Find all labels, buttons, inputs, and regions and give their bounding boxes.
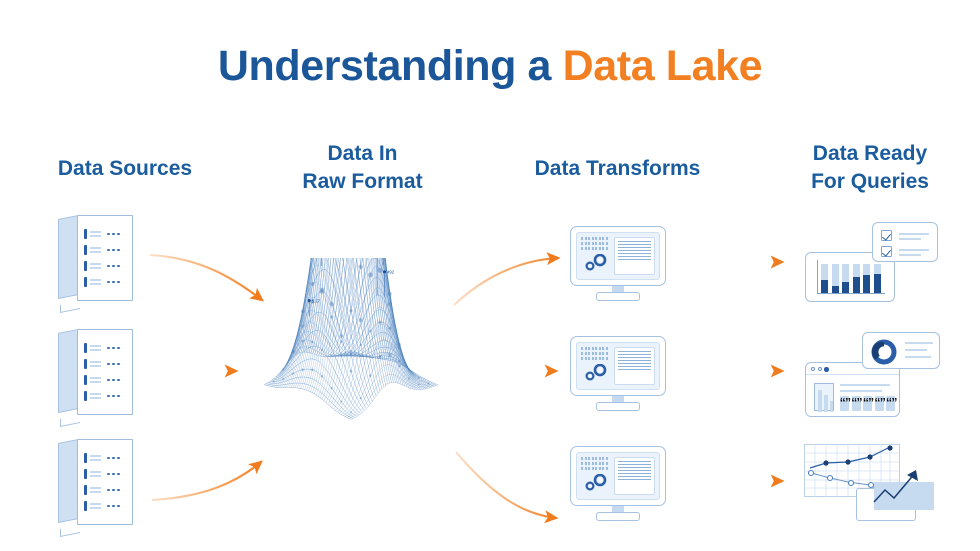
monitor-bezel (570, 336, 666, 396)
line-chart-with-trend-card[interactable] (800, 442, 945, 537)
bar-1 (821, 264, 828, 293)
dashboard-with-donut-chart[interactable] (800, 332, 945, 424)
data-lake-pin-label: 492 (387, 270, 395, 275)
bar-chart-with-checklist[interactable] (800, 222, 940, 312)
checklist-line-1b (899, 238, 921, 240)
monitor-settings-panel (581, 237, 611, 275)
bar-5 (863, 264, 870, 293)
gear-icon (581, 474, 611, 491)
monitor-code-panel (614, 237, 655, 275)
bar-4 (853, 264, 860, 293)
monitor-screen (576, 452, 660, 500)
checklist-line-2 (899, 249, 929, 251)
data-lake-pin: 488 (382, 258, 394, 265)
monitor-bezel (570, 446, 666, 506)
dashboard-line-2 (840, 390, 882, 392)
monitor-stand-base (596, 292, 640, 301)
dashboard-window (805, 362, 900, 417)
donut-chart-card (862, 332, 940, 369)
gear-icon (581, 364, 611, 381)
checkbox-checked-1[interactable] (881, 230, 892, 241)
monitor-screen (576, 232, 660, 280)
data-lake-pin-label: 5.17 (312, 298, 321, 303)
monitor-stand-base (596, 512, 640, 521)
monitor-screen (576, 342, 660, 390)
bar-2 (832, 264, 839, 293)
donut-card-line-1 (905, 342, 933, 344)
window-controls (811, 367, 829, 372)
transform-monitor-3[interactable] (570, 446, 666, 524)
checklist-line-2b (899, 254, 921, 256)
trend-arrow-icon (872, 468, 942, 518)
dashboard-side-chart (814, 383, 834, 411)
dashboard-data-blocks (840, 396, 895, 411)
bar-6 (874, 264, 881, 293)
arrow-source3-to-lake (152, 462, 261, 500)
gear-icon (581, 254, 611, 271)
monitor-bezel (570, 226, 666, 286)
monitor-settings-panel (581, 347, 611, 385)
bar-3 (842, 264, 849, 293)
donut-card-line-3 (905, 356, 931, 358)
dashboard-line-1 (840, 384, 890, 386)
infographic-canvas: Understanding a Data Lake Data Sources D… (0, 0, 980, 551)
checkbox-checked-2[interactable] (881, 246, 892, 257)
monitor-code-panel (614, 347, 655, 385)
bar-series (821, 261, 881, 293)
donut-card-line-2 (905, 349, 927, 351)
monitor-stand-base (596, 402, 640, 411)
monitor-settings-panel (581, 457, 611, 495)
checklist-card (872, 222, 938, 262)
donut-chart-icon (869, 337, 899, 367)
chart-x-axis (817, 293, 885, 294)
checklist-line-1 (899, 233, 929, 235)
transform-monitor-1[interactable] (570, 226, 666, 304)
data-lake-3d-surface-visualization: 5.173.687.006.310.364.060.702646.679.318… (196, 258, 506, 463)
monitor-code-panel (614, 457, 655, 495)
transform-monitor-2[interactable] (570, 336, 666, 414)
chart-y-axis (817, 260, 818, 293)
